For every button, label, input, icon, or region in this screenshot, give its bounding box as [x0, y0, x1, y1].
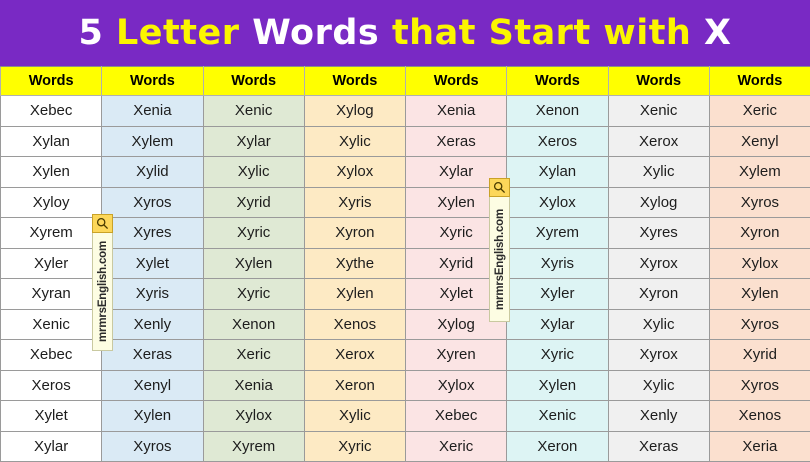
table-row: XyloyXyrosXyridXyrisXylenXyloxXylogXyros [1, 187, 810, 218]
word-cell: Xyros [709, 370, 810, 401]
column-header-2: Words [102, 67, 203, 96]
word-cell: Xylar [203, 126, 304, 157]
word-cell: Xyris [102, 279, 203, 310]
word-cell: Xylox [406, 370, 507, 401]
table-row: XylerXyletXylenXytheXyridXyrisXyroxXylox [1, 248, 810, 279]
table-row: XerosXenylXeniaXeronXyloxXylenXylicXyros [1, 370, 810, 401]
word-cell: Xenic [203, 96, 304, 127]
word-cell: Xyrox [608, 248, 709, 279]
word-cell: Xylen [1, 157, 102, 188]
word-cell: Xyric [203, 218, 304, 249]
word-cell: Xenon [507, 96, 608, 127]
column-header-8: Words [709, 67, 810, 96]
word-cell: Xylic [608, 370, 709, 401]
table-row: XylarXyrosXyremXyricXericXeronXerasXeria [1, 431, 810, 462]
word-cell: Xylen [507, 370, 608, 401]
title-word-4: that [392, 13, 476, 53]
word-cell: Xylan [507, 157, 608, 188]
word-cell: Xylet [102, 248, 203, 279]
word-cell: Xyloy [1, 187, 102, 218]
title-word-1: 5 [78, 13, 103, 53]
word-cell: Xythe [304, 248, 405, 279]
word-cell: Xenia [406, 96, 507, 127]
word-cell: Xyros [709, 309, 810, 340]
word-cell: Xyler [507, 279, 608, 310]
column-header-3: Words [203, 67, 304, 96]
word-cell: Xylic [203, 157, 304, 188]
word-cell: Xyran [1, 279, 102, 310]
title-word-3: Words [252, 13, 379, 53]
word-cell: Xyron [608, 279, 709, 310]
table-body: XebecXeniaXenicXylogXeniaXenonXenicXeric… [1, 96, 810, 462]
word-cell: Xyres [608, 218, 709, 249]
word-cell: Xylan [1, 126, 102, 157]
word-cell: Xeras [102, 340, 203, 371]
table-row: XylanXylemXylarXylicXerasXerosXeroxXenyl [1, 126, 810, 157]
word-cell: Xenos [304, 309, 405, 340]
word-cell: Xylen [203, 248, 304, 279]
page-title: 5 Letter Words that Start with X [72, 16, 737, 51]
word-cell: Xeric [406, 431, 507, 462]
word-cell: Xylar [507, 309, 608, 340]
word-cell: Xylic [608, 309, 709, 340]
word-cell: Xylog [406, 309, 507, 340]
column-header-4: Words [304, 67, 405, 96]
word-cell: Xenia [203, 370, 304, 401]
table-row: XyremXyresXyricXyronXyricXyremXyresXyron [1, 218, 810, 249]
word-cell: Xeros [1, 370, 102, 401]
word-cell: Xylox [507, 187, 608, 218]
word-cell: Xeric [203, 340, 304, 371]
word-cell: Xyrem [507, 218, 608, 249]
word-cell: Xyris [304, 187, 405, 218]
word-cell: Xyrox [608, 340, 709, 371]
word-cell: Xebec [1, 96, 102, 127]
word-cell: Xenos [709, 401, 810, 432]
word-cell: Xyric [507, 340, 608, 371]
word-cell: Xylog [304, 96, 405, 127]
word-cell: Xenly [608, 401, 709, 432]
title-word-5: Start [489, 13, 591, 53]
word-cell: Xyron [709, 218, 810, 249]
word-cell: Xeric [709, 96, 810, 127]
word-cell: Xenly [102, 309, 203, 340]
word-cell: Xylen [709, 279, 810, 310]
word-cell: Xylen [406, 187, 507, 218]
column-header-6: Words [507, 67, 608, 96]
title-banner: 5 Letter Words that Start with X [0, 0, 810, 66]
title-word-6: with [603, 13, 691, 53]
word-cell: Xyrid [406, 248, 507, 279]
word-cell: Xenyl [102, 370, 203, 401]
column-header-7: Words [608, 67, 709, 96]
word-list-poster: 5 Letter Words that Start with X WordsWo… [0, 0, 810, 456]
word-cell: Xeras [608, 431, 709, 462]
word-cell: Xerox [304, 340, 405, 371]
word-cell: Xenyl [709, 126, 810, 157]
word-cell: Xerox [608, 126, 709, 157]
word-cell: Xyrem [203, 431, 304, 462]
word-cell: Xylar [406, 157, 507, 188]
table-header-row: WordsWordsWordsWordsWordsWordsWordsWords [1, 67, 810, 96]
word-cell: Xylic [304, 401, 405, 432]
word-cell: Xylen [304, 279, 405, 310]
word-cell: Xenon [203, 309, 304, 340]
word-cell: Xyren [406, 340, 507, 371]
table-row: XenicXenlyXenonXenosXylogXylarXylicXyros [1, 309, 810, 340]
word-cell: Xylet [406, 279, 507, 310]
word-cell: Xenic [507, 401, 608, 432]
title-word-7: X [704, 13, 732, 53]
word-cell: Xebec [406, 401, 507, 432]
word-cell: Xylen [102, 401, 203, 432]
table-row: XyletXylenXyloxXylicXebecXenicXenlyXenos [1, 401, 810, 432]
word-cell: Xeron [304, 370, 405, 401]
word-cell: Xenia [102, 96, 203, 127]
table-row: XebecXerasXericXeroxXyrenXyricXyroxXyrid [1, 340, 810, 371]
word-cell: Xyrid [203, 187, 304, 218]
word-cell: Xylog [608, 187, 709, 218]
word-cell: Xylox [304, 157, 405, 188]
word-cell: Xyron [304, 218, 405, 249]
word-cell: Xylic [608, 157, 709, 188]
word-cell: Xeron [507, 431, 608, 462]
word-cell: Xylet [1, 401, 102, 432]
word-cell: Xeros [507, 126, 608, 157]
word-cell: Xeria [709, 431, 810, 462]
column-header-1: Words [1, 67, 102, 96]
word-cell: Xyrem [1, 218, 102, 249]
title-word-2: Letter [116, 13, 240, 53]
word-cell: Xeras [406, 126, 507, 157]
word-cell: Xyric [304, 431, 405, 462]
word-cell: Xylox [709, 248, 810, 279]
table-row: XebecXeniaXenicXylogXeniaXenonXenicXeric [1, 96, 810, 127]
word-cell: Xylic [304, 126, 405, 157]
word-cell: Xylar [1, 431, 102, 462]
word-cell: Xyres [102, 218, 203, 249]
word-cell: Xylid [102, 157, 203, 188]
words-table: WordsWordsWordsWordsWordsWordsWordsWords… [0, 66, 810, 462]
word-cell: Xenic [608, 96, 709, 127]
word-cell: Xebec [1, 340, 102, 371]
word-cell: Xyler [1, 248, 102, 279]
word-cell: Xyric [406, 218, 507, 249]
word-cell: Xyros [709, 187, 810, 218]
table-row: XyranXyrisXyricXylenXyletXylerXyronXylen [1, 279, 810, 310]
word-cell: Xyros [102, 187, 203, 218]
word-cell: Xyric [203, 279, 304, 310]
word-cell: Xenic [1, 309, 102, 340]
word-cell: Xyris [507, 248, 608, 279]
word-cell: Xylem [102, 126, 203, 157]
word-cell: Xyrid [709, 340, 810, 371]
word-cell: Xylox [203, 401, 304, 432]
word-cell: Xylem [709, 157, 810, 188]
column-header-5: Words [406, 67, 507, 96]
word-cell: Xyros [102, 431, 203, 462]
table-row: XylenXylidXylicXyloxXylarXylanXylicXylem [1, 157, 810, 188]
